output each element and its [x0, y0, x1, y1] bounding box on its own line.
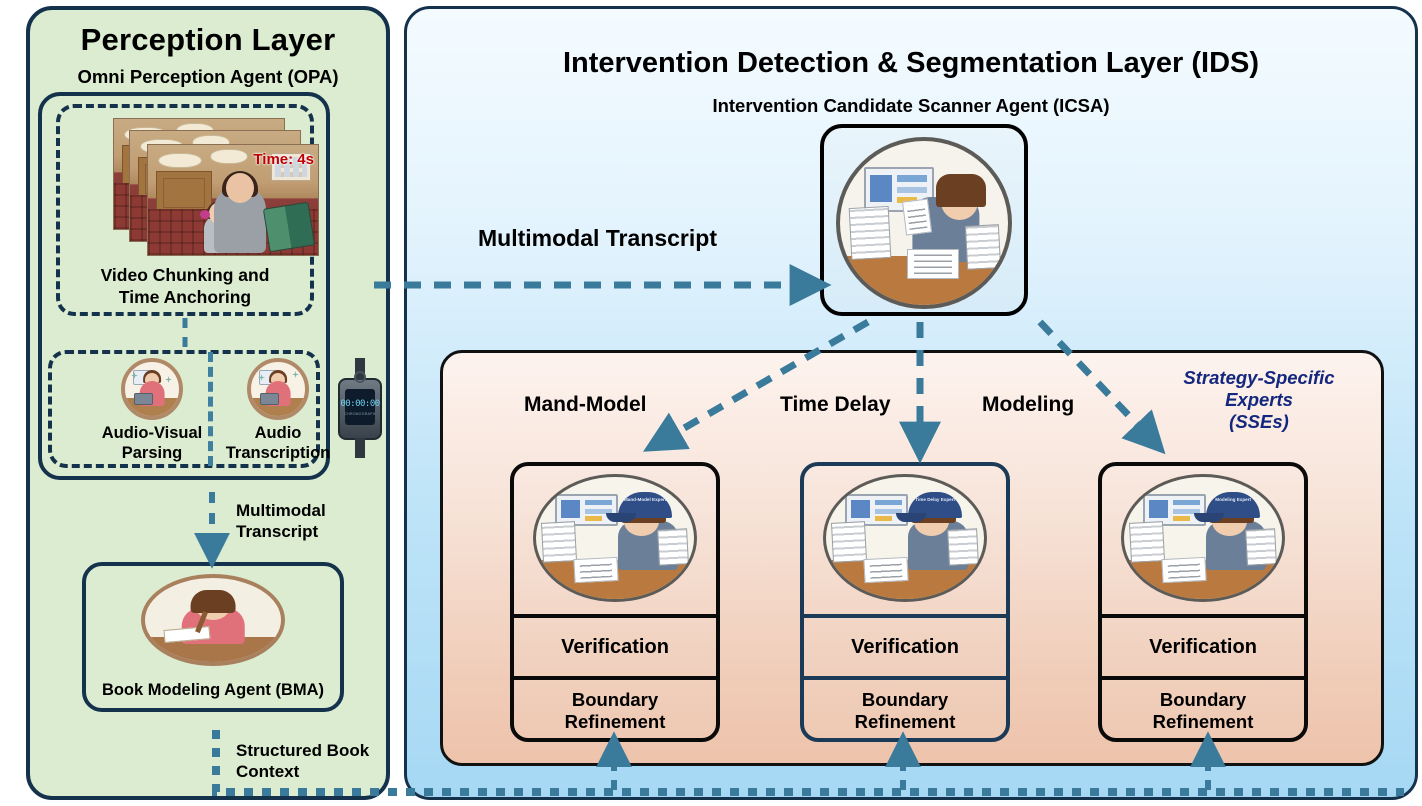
expert-agent-icon: Time Delay Expert [823, 474, 987, 602]
parsing-divider [208, 352, 213, 466]
strategy-label-time-delay: Time Delay [780, 393, 891, 417]
bma-box: Book Modeling Agent (BMA) [82, 562, 344, 712]
stopwatch-sublabel: CHRONOGRAPH [344, 412, 375, 416]
strategy-label-mand-model: Mand-Model [524, 393, 646, 417]
boundary-refinement-row[interactable]: BoundaryRefinement [514, 676, 716, 742]
expert-agent-icon: Mand-Model Expert [533, 474, 697, 602]
expert-card-modeling[interactable]: Modeling Expert Verification BoundaryRef… [1098, 462, 1308, 742]
opa-subtitle: Omni Perception Agent (OPA) [30, 66, 386, 88]
scanner-agent-icon [836, 137, 1012, 309]
boundary-refinement-row[interactable]: BoundaryRefinement [1102, 676, 1304, 742]
video-chunking-label: Video Chunking and Time Anchoring [56, 264, 314, 309]
video-frames-group: Time: 4s [113, 118, 325, 264]
expert-card-mand-model[interactable]: Mand-Model Expert Verification BoundaryR… [510, 462, 720, 742]
ids-title: Intervention Detection & Segmentation La… [407, 47, 1415, 80]
audio-transcription-item: Audio Transcription [222, 358, 334, 463]
expert-agent-icon: Modeling Expert [1121, 474, 1285, 602]
multimodal-transcript-label-left: Multimodal Transcript [236, 500, 326, 543]
verification-row[interactable]: Verification [1102, 614, 1304, 676]
bma-label: Book Modeling Agent (BMA) [86, 681, 340, 700]
page-title: Perception Layer [30, 22, 386, 58]
stopwatch-display: 00:00:00 [340, 399, 379, 409]
icsa-box [820, 124, 1028, 316]
person-headphones-laptop-icon [247, 358, 309, 420]
icsa-subtitle: Intervention Candidate Scanner Agent (IC… [407, 95, 1415, 117]
expert-card-time-delay[interactable]: Time Delay Expert Verification BoundaryR… [800, 462, 1010, 742]
diagram-canvas: Perception Layer Omni Perception Agent (… [0, 0, 1422, 806]
girl-reading-book-icon [141, 574, 285, 666]
boundary-refinement-row[interactable]: BoundaryRefinement [804, 676, 1006, 742]
audio-visual-parsing-item: Audio-Visual Parsing [98, 358, 206, 463]
time-anchor-label: Time: 4s [253, 151, 314, 168]
stopwatch-icon: 00:00:00 CHRONOGRAPH [338, 378, 382, 440]
strategy-label-modeling: Modeling [982, 393, 1074, 417]
structured-book-context-label: Structured Book Context [236, 740, 369, 783]
video-frame-3: Time: 4s [147, 144, 319, 256]
verification-row[interactable]: Verification [514, 614, 716, 676]
sse-caption: Strategy-Specific Experts (SSEs) [1149, 367, 1369, 432]
verification-row[interactable]: Verification [804, 614, 1006, 676]
multimodal-transcript-label-right: Multimodal Transcript [478, 225, 717, 252]
person-headset-laptop-icon [121, 358, 183, 420]
